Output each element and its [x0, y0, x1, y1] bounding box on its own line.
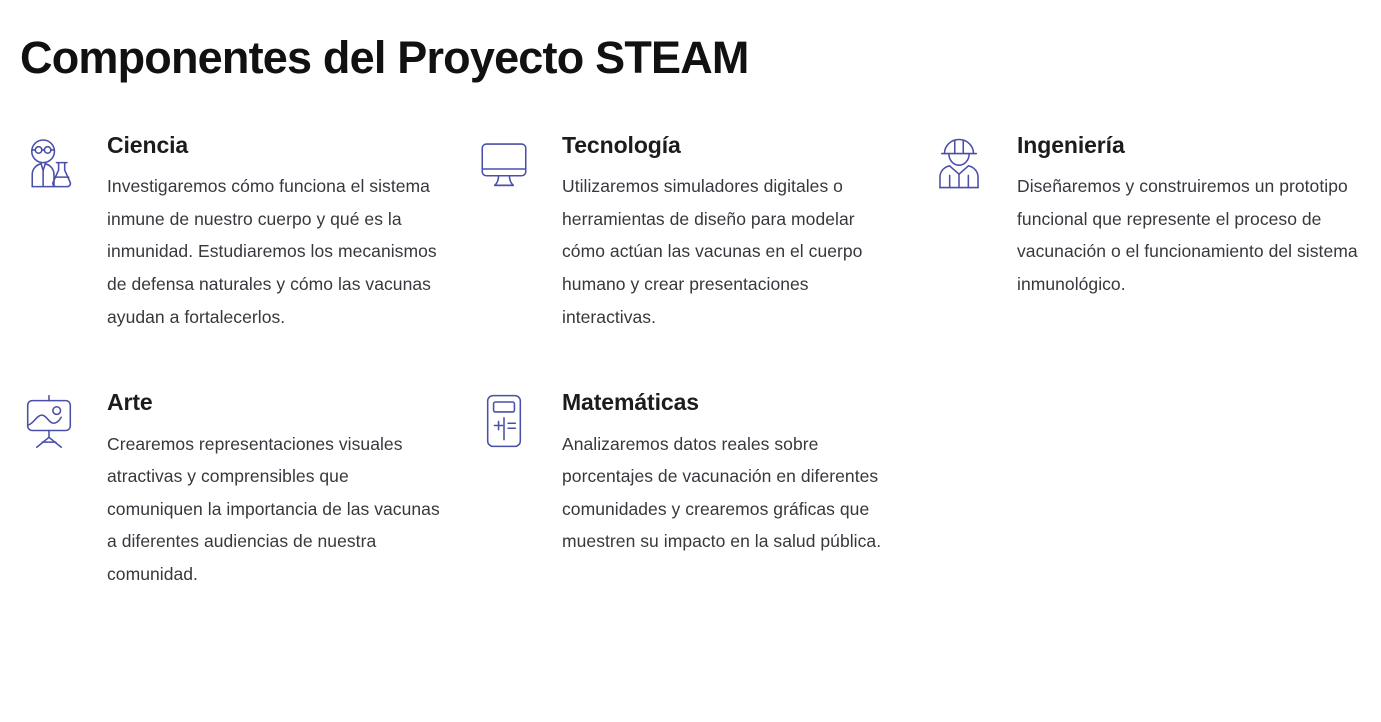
component-title-ingenieria: Ingeniería — [1017, 133, 1366, 158]
calculator-icon — [475, 392, 537, 454]
component-title-matematicas: Matemáticas — [562, 390, 930, 415]
desktop-monitor-icon — [475, 135, 537, 197]
easel-canvas-icon — [20, 392, 82, 454]
steam-components-page: Componentes del Proyecto STEAM — [0, 0, 1381, 722]
component-card-tecnologia: Tecnología Utilizaremos simuladores digi… — [475, 133, 930, 333]
component-text-ingenieria: Ingeniería Diseñaremos y construiremos u… — [1017, 133, 1366, 301]
components-grid: Ciencia Investigaremos cómo funciona el … — [20, 133, 1366, 591]
component-title-arte: Arte — [107, 390, 475, 415]
component-text-matematicas: Matemáticas Analizaremos datos reales so… — [562, 390, 930, 558]
scientist-flask-icon — [20, 135, 82, 197]
hard-hat-worker-icon — [930, 135, 992, 197]
page-title: Componentes del Proyecto STEAM — [20, 33, 749, 83]
component-card-ciencia: Ciencia Investigaremos cómo funciona el … — [20, 133, 475, 333]
component-text-tecnologia: Tecnología Utilizaremos simuladores digi… — [562, 133, 930, 333]
component-description-matematicas: Analizaremos datos reales sobre porcenta… — [562, 428, 912, 558]
component-text-ciencia: Ciencia Investigaremos cómo funciona el … — [107, 133, 475, 333]
component-description-ciencia: Investigaremos cómo funciona el sistema … — [107, 170, 451, 333]
component-title-tecnologia: Tecnología — [562, 133, 930, 158]
component-text-arte: Arte Crearemos representaciones visuales… — [107, 390, 475, 590]
component-card-ingenieria: Ingeniería Diseñaremos y construiremos u… — [930, 133, 1366, 333]
component-card-matematicas: Matemáticas Analizaremos datos reales so… — [475, 390, 930, 590]
component-description-ingenieria: Diseñaremos y construiremos un prototipo… — [1017, 170, 1362, 300]
component-description-arte: Crearemos representaciones visuales atra… — [107, 428, 442, 591]
component-title-ciencia: Ciencia — [107, 133, 475, 158]
component-description-tecnologia: Utilizaremos simuladores digitales o her… — [562, 170, 902, 333]
component-card-arte: Arte Crearemos representaciones visuales… — [20, 390, 475, 590]
